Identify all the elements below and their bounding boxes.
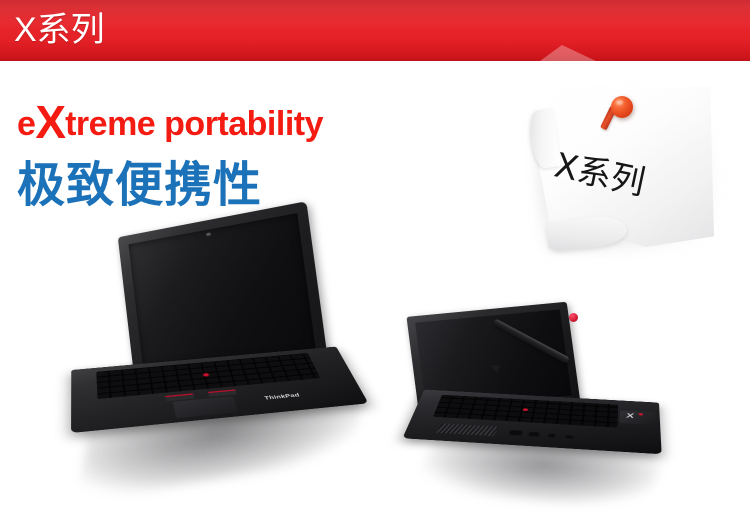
webcam-icon — [206, 232, 211, 236]
stylus-pen-cap — [569, 313, 578, 322]
laptop-screen — [128, 213, 316, 366]
pushpin-icon — [611, 96, 633, 118]
thinkpad-badge-dot — [639, 413, 643, 416]
thinkpad-badge-letter: X — [625, 413, 634, 420]
headline-english-suffix: treme portability — [65, 105, 323, 143]
banner-title: X系列 — [14, 7, 105, 53]
audio-port — [547, 433, 556, 438]
promo-banner-page: X系列 eXtreme portability 极致便携性 X系列 ThinkP… — [0, 0, 750, 516]
headline-english-prefix: e — [17, 105, 35, 143]
product-image-thinkpad-clamshell: ThinkPad ThinkPad — [55, 232, 385, 494]
power-port — [564, 435, 574, 439]
headline-chinese: 极致便携性 — [17, 157, 262, 215]
tablet-keyboard — [433, 395, 618, 428]
sticky-note: X系列 — [517, 78, 733, 258]
top-banner: X系列 — [0, 0, 750, 61]
headline-english: eXtreme portability — [17, 100, 323, 146]
vga-port — [508, 430, 523, 436]
thinkpad-logo: ThinkPad — [264, 393, 301, 401]
pushpin-highlight — [616, 100, 623, 105]
banner-gloss — [0, 0, 750, 30]
product-image-thinkpad-tablet: lenovo X — [398, 300, 678, 510]
tablet-vent — [436, 423, 500, 436]
headline-accent-x: X — [35, 96, 65, 148]
banner-accent-wedge — [540, 45, 596, 61]
usb-port — [528, 431, 541, 437]
